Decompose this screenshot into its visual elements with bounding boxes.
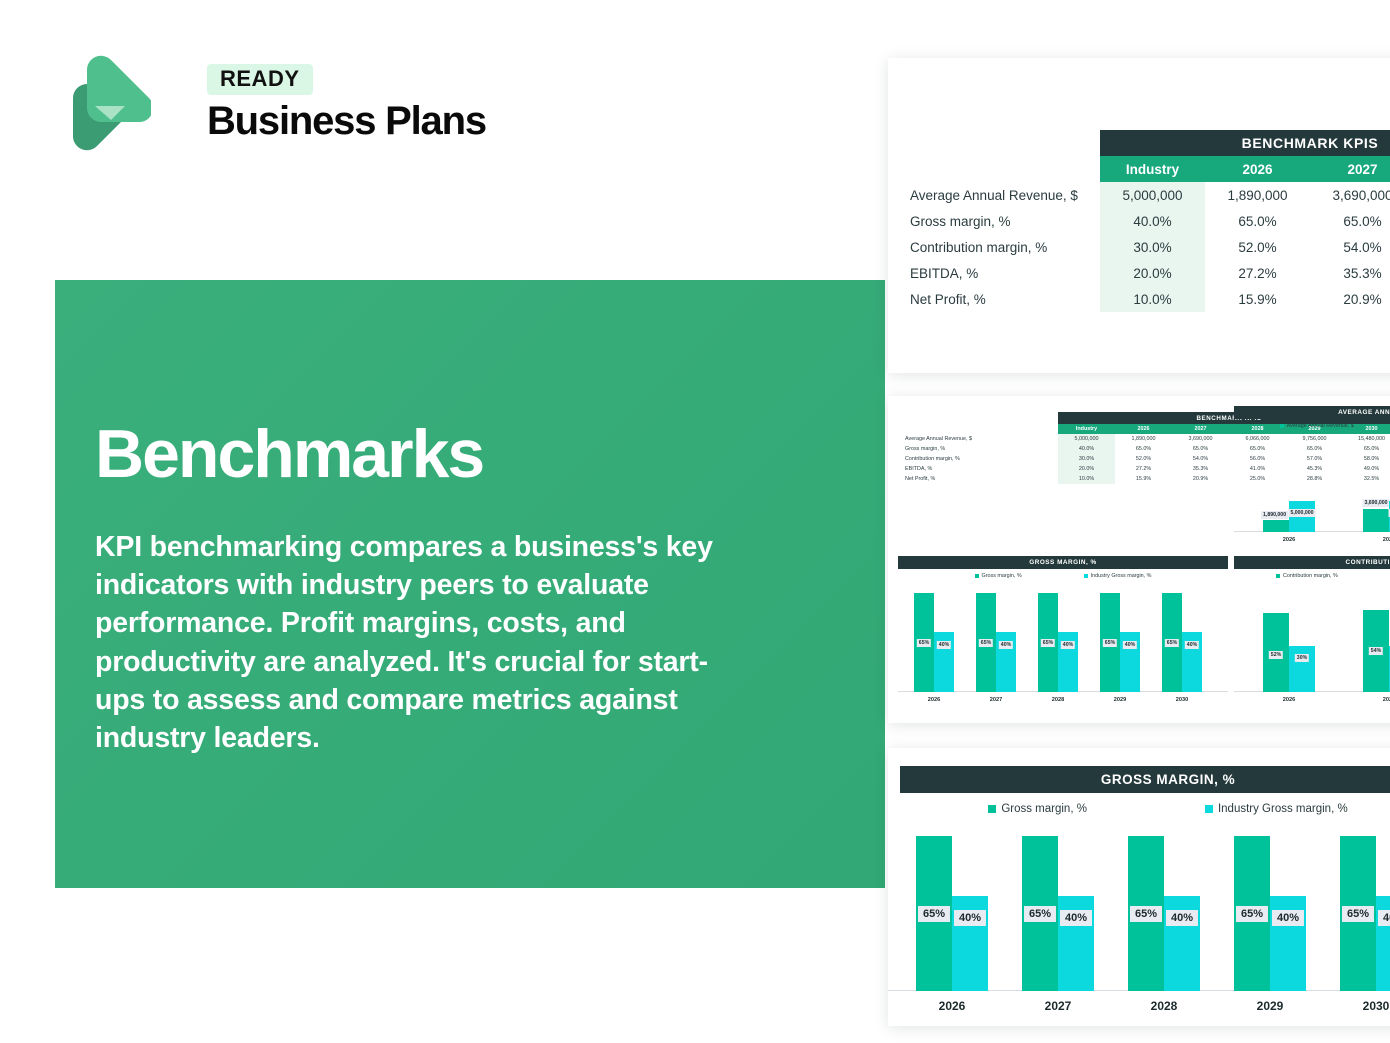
bar-primary: 65% — [1234, 836, 1270, 991]
table-row: Contribution margin, % 30.0% 52.0% 54.0%… — [900, 234, 1390, 260]
cell-2027: 35.3% — [1172, 464, 1229, 474]
bar-value-label: 3,690,000 — [1362, 499, 1389, 507]
bar-value-label: 1,890,000 — [1261, 511, 1288, 519]
bar-value-label: 65% — [1130, 906, 1162, 922]
bar-primary: 65% — [914, 593, 934, 692]
x-axis-label: 2027 — [1008, 999, 1108, 1013]
bar-group: 3,690,000 5,000,000 — [1346, 432, 1390, 532]
bar-secondary: 40% — [1058, 896, 1094, 991]
row-label: EBITDA, % — [900, 464, 1058, 474]
cell-industry: 40.0% — [1100, 208, 1205, 234]
chart-plot-area: 52% 30% 54% 30% 56% 30% — [1234, 582, 1390, 692]
legend-swatch-primary — [975, 574, 979, 578]
column-header-2026: 2026 — [1115, 424, 1172, 434]
gross-margin-chart-small: GROSS MARGIN, % Gross margin, % Industry… — [898, 556, 1228, 721]
x-axis-label: 2026 — [1246, 537, 1332, 543]
bar-secondary: 40% — [1120, 632, 1140, 693]
cell-2027: 20.9% — [1172, 474, 1229, 484]
legend-item-secondary: Industry Gross margin, % — [1084, 573, 1152, 579]
column-header-2027: 2027 — [1172, 424, 1229, 434]
cell-2027: 65.0% — [1310, 208, 1390, 234]
table-title: BENCHMARK KPIS — [1100, 130, 1390, 156]
cell-industry: 30.0% — [1100, 234, 1205, 260]
legend-label-primary: Contribution margin, % — [1283, 573, 1338, 579]
column-header-2026: 2026 — [1205, 156, 1310, 182]
bar-group: 65% 40% — [1030, 582, 1086, 692]
legend-item-primary: Gross margin, % — [975, 573, 1022, 579]
cell-2026: 65.0% — [1115, 444, 1172, 454]
bar-primary: 65% — [1128, 836, 1164, 991]
bar-value-label: 40% — [1123, 641, 1137, 649]
bar-primary: 52% — [1263, 613, 1289, 692]
bar-secondary: 40% — [934, 632, 954, 693]
table-header-row: Industry 2026 2027 2028 — [900, 156, 1390, 182]
chart-legend: Gross margin, % Industry Gross margin, % — [898, 573, 1228, 579]
bar-primary: 3,690,000 — [1363, 509, 1389, 532]
chart-plot-area: 65% 40% 65% 40% 65% 40% — [888, 821, 1390, 991]
page-title: Benchmarks — [95, 420, 483, 488]
legend-swatch-primary — [1276, 574, 1280, 578]
bar-secondary: 40% — [996, 632, 1016, 693]
legend-label-primary: Gross margin, % — [1001, 803, 1087, 815]
cell-industry: 30.0% — [1058, 454, 1115, 464]
bar-group: 65% 40% — [1092, 582, 1148, 692]
bar-value-label: 40% — [1060, 910, 1092, 926]
bar-value-label: 40% — [954, 910, 986, 926]
cell-industry: 40.0% — [1058, 444, 1115, 454]
cell-2027: 20.9% — [1310, 286, 1390, 312]
column-header-industry: Industry — [1058, 424, 1115, 434]
bar-value-label: 65% — [1103, 639, 1117, 647]
cell-2027: 54.0% — [1172, 454, 1229, 464]
table-title-spacer — [900, 412, 1058, 424]
bar-group: 54% 30% — [1346, 582, 1390, 692]
bar-group: 65% 40% — [1008, 821, 1108, 991]
cell-2026: 52.0% — [1205, 234, 1310, 260]
row-label: Average Annual Revenue, $ — [900, 182, 1100, 208]
table-row: Average Annual Revenue, $ 5,000,000 1,89… — [900, 182, 1390, 208]
chart-title: GROSS MARGIN, % — [900, 766, 1390, 793]
row-label: EBITDA, % — [900, 260, 1100, 286]
average-annual-revenue-chart: AVERAGE ANNUAL REVENUE, $ Average Annual… — [1234, 406, 1390, 556]
contribution-margin-chart: CONTRIBUTION MARGIN, % Contribution marg… — [1234, 556, 1390, 721]
brand-wordmark: READY Business Plans — [207, 64, 497, 142]
hero-panel: Benchmarks KPI benchmarking compares a b… — [55, 280, 885, 888]
cell-2027: 54.0% — [1310, 234, 1390, 260]
table-row: Gross margin, % 40.0% 65.0% 65.0% 65.0% — [900, 208, 1390, 234]
chart-title: GROSS MARGIN, % — [898, 556, 1228, 569]
cell-industry: 10.0% — [1100, 286, 1205, 312]
table-title-spacer — [900, 130, 1100, 156]
bar-primary: 65% — [1162, 593, 1182, 692]
benchmark-kpis-table: BENCHMARK KPIS Industry 2026 2027 2028 A… — [900, 130, 1390, 312]
x-axis-label: 2026 — [902, 999, 1002, 1013]
bar-secondary: 40% — [1164, 896, 1200, 991]
bar-value-label: 65% — [1165, 639, 1179, 647]
bar-group: 65% 40% — [1220, 821, 1320, 991]
x-axis-label: 2028 — [1030, 697, 1086, 703]
x-axis-label: 2027 — [1346, 697, 1390, 703]
legend-label-primary: Average Annual Revenue, $ — [1287, 423, 1354, 429]
x-axis-label: 2026 — [906, 697, 962, 703]
bar-group: 65% 40% — [1154, 582, 1210, 692]
cell-industry: 5,000,000 — [1058, 434, 1115, 444]
cell-2027: 3,690,000 — [1172, 434, 1229, 444]
x-axis-label: 2030 — [1154, 697, 1210, 703]
legend-swatch-secondary — [1084, 574, 1088, 578]
row-label: Net Profit, % — [900, 474, 1058, 484]
bar-group: 65% 40% — [1326, 821, 1390, 991]
x-axis-label: 2029 — [1220, 999, 1320, 1013]
bar-value-label: 65% — [1342, 906, 1374, 922]
bar-group: 65% 40% — [906, 582, 962, 692]
bar-primary: 65% — [1038, 593, 1058, 692]
bar-value-label: 65% — [1024, 906, 1056, 922]
brand-logo: READY Business Plans — [55, 50, 475, 155]
bar-primary: 65% — [1022, 836, 1058, 991]
table-corner-cell — [900, 424, 1058, 434]
row-label: Average Annual Revenue, $ — [900, 434, 1058, 444]
chart-plot-area: 65% 40% 65% 40% 65% 40% — [898, 582, 1228, 692]
bar-primary: 65% — [1340, 836, 1376, 991]
legend-label-secondary: Industry Gross margin, % — [1218, 803, 1348, 815]
benchmark-table-card: BENCHMARK KPIS Industry 2026 2027 2028 A… — [888, 58, 1390, 373]
table-title-row: BENCHMARK KPIS — [900, 130, 1390, 156]
cell-industry: 20.0% — [1058, 464, 1115, 474]
gross-margin-card: GROSS MARGIN, % Gross margin, % Industry… — [888, 748, 1390, 1026]
bar-secondary: 30% — [1289, 646, 1315, 692]
bar-secondary: 40% — [1058, 632, 1078, 693]
legend-label-secondary: Industry Gross margin, % — [1091, 573, 1152, 579]
bar-value-label: 40% — [1061, 641, 1075, 649]
x-axis-label: 2027 — [1346, 537, 1390, 543]
legend-item-primary: Average Annual Revenue, $ — [1280, 423, 1354, 429]
cell-industry: 10.0% — [1058, 474, 1115, 484]
row-label: Contribution margin, % — [900, 234, 1100, 260]
bar-value-label: 40% — [1185, 641, 1199, 649]
bar-value-label: 65% — [1041, 639, 1055, 647]
bar-secondary: 40% — [1376, 896, 1390, 991]
bar-primary: 65% — [976, 593, 996, 692]
legend-item-primary: Gross margin, % — [988, 803, 1087, 815]
legend-swatch-secondary — [1205, 805, 1213, 813]
bar-group: 65% 40% — [902, 821, 1002, 991]
chart-legend: Average Annual Revenue, $ Industry Avera… — [1234, 423, 1390, 429]
bar-value-label: 65% — [917, 639, 931, 647]
legend-label-primary: Gross margin, % — [982, 573, 1022, 579]
row-label: Gross margin, % — [900, 444, 1058, 454]
x-axis-label: 2030 — [1326, 999, 1390, 1013]
cell-2026: 27.2% — [1115, 464, 1172, 474]
cell-industry: 5,000,000 — [1100, 182, 1205, 208]
row-label: Contribution margin, % — [900, 454, 1058, 464]
bar-primary: 65% — [1100, 593, 1120, 692]
cell-industry: 20.0% — [1100, 260, 1205, 286]
gross-margin-chart: GROSS MARGIN, % Gross margin, % Industry… — [888, 748, 1390, 1026]
cell-2026: 27.2% — [1205, 260, 1310, 286]
bar-value-label: 65% — [918, 906, 950, 922]
table-row: EBITDA, % 20.0% 27.2% 35.3% 41.0% — [900, 260, 1390, 286]
bar-value-label: 40% — [1272, 910, 1304, 926]
cell-2026: 1,890,000 — [1205, 182, 1310, 208]
bar-value-label: 54% — [1369, 647, 1383, 655]
dashboard-overview-card: BENCHMARK KPIS Industry 2026 2027 2028 2… — [888, 396, 1390, 723]
bar-primary: 65% — [916, 836, 952, 991]
ready-badge: READY — [207, 64, 313, 95]
cell-2026: 1,890,000 — [1115, 434, 1172, 444]
bar-value-label: 40% — [1166, 910, 1198, 926]
play-logo-icon — [55, 52, 151, 152]
bar-value-label: 5,000,000 — [1288, 509, 1315, 517]
cell-2027: 3,690,000 — [1310, 182, 1390, 208]
cell-2027: 65.0% — [1172, 444, 1229, 454]
bar-value-label: 65% — [979, 639, 993, 647]
bar-value-label: 65% — [1236, 906, 1268, 922]
bar-primary: 1,890,000 — [1263, 520, 1289, 532]
cell-2026: 65.0% — [1205, 208, 1310, 234]
bar-value-label: 30% — [1295, 654, 1309, 662]
legend-item-secondary: Industry Gross margin, % — [1205, 803, 1348, 815]
bar-group: 65% 40% — [968, 582, 1024, 692]
bar-secondary: 40% — [1182, 632, 1202, 693]
chart-legend: Contribution margin, % — [1234, 573, 1390, 579]
brand-name: Business Plans — [207, 100, 497, 142]
x-axis-label: 2029 — [1092, 697, 1148, 703]
bar-secondary: 40% — [952, 896, 988, 991]
page-description: KPI benchmarking compares a business's k… — [95, 528, 755, 757]
row-label: Net Profit, % — [900, 286, 1100, 312]
bar-secondary: 40% — [1270, 896, 1306, 991]
row-label: Gross margin, % — [900, 208, 1100, 234]
bar-secondary: 5,000,000 — [1289, 501, 1315, 532]
column-header-2027: 2027 — [1310, 156, 1390, 182]
legend-swatch-primary — [988, 805, 996, 813]
legend-swatch-primary — [1280, 424, 1284, 428]
chart-plot-area: 1,890,000 5,000,000 3,690,000 5,000,000 … — [1234, 432, 1390, 532]
chart-legend: Gross margin, % Industry Gross margin, % — [888, 803, 1390, 815]
bar-group: 1,890,000 5,000,000 — [1246, 432, 1332, 532]
cell-2026: 15.9% — [1205, 286, 1310, 312]
x-axis-label: 2026 — [1246, 697, 1332, 703]
bar-value-label: 40% — [1378, 910, 1390, 926]
bar-value-label: 40% — [999, 641, 1013, 649]
bar-value-label: 52% — [1269, 651, 1283, 659]
cell-2027: 35.3% — [1310, 260, 1390, 286]
bar-primary: 54% — [1363, 610, 1389, 693]
legend-item-primary: Contribution margin, % — [1276, 573, 1338, 579]
bar-value-label: 40% — [937, 641, 951, 649]
table-corner-cell — [900, 156, 1100, 182]
bar-group: 52% 30% — [1246, 582, 1332, 692]
cell-2026: 15.9% — [1115, 474, 1172, 484]
chart-title: AVERAGE ANNUAL REVENUE, $ — [1234, 406, 1390, 419]
column-header-industry: Industry — [1100, 156, 1205, 182]
bar-group: 65% 40% — [1114, 821, 1214, 991]
cell-2026: 52.0% — [1115, 454, 1172, 464]
x-axis-label: 2028 — [1114, 999, 1214, 1013]
chart-title: CONTRIBUTION MARGIN, % — [1234, 556, 1390, 569]
table-row: Net Profit, % 10.0% 15.9% 20.9% 25.0% — [900, 286, 1390, 312]
x-axis-label: 2027 — [968, 697, 1024, 703]
